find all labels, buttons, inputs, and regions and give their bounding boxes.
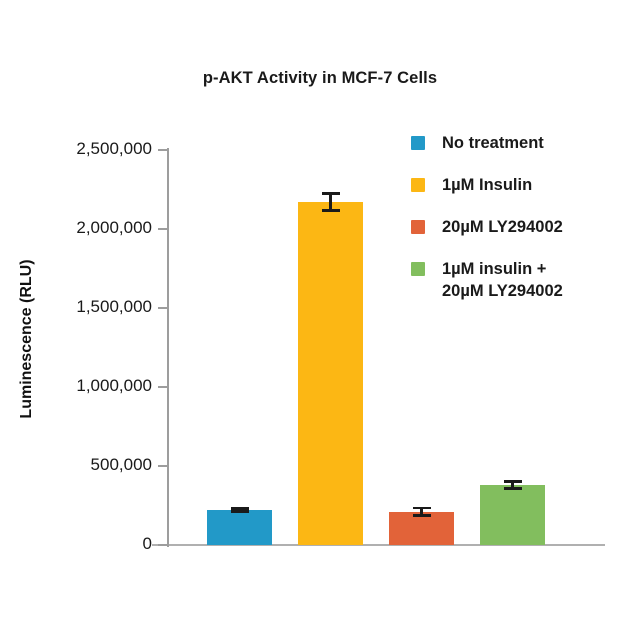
error-bar [329, 193, 331, 210]
legend-item[interactable]: 1µM Insulin [411, 174, 640, 196]
legend-color-swatch-icon [411, 136, 425, 150]
error-bar-cap-lower [413, 514, 431, 517]
legend-color-swatch-icon [411, 220, 425, 234]
error-bar-cap-upper [504, 480, 522, 483]
chart-container: p-AKT Activity in MCF-7 Cells Luminescen… [0, 0, 640, 630]
legend-color-swatch-icon [411, 178, 425, 192]
y-axis-tick-label: 2,000,000 [22, 218, 152, 238]
legend-item[interactable]: 20µM LY294002 [411, 216, 640, 238]
error-bar-cap-lower [504, 487, 522, 490]
y-axis-tick-label: 1,000,000 [22, 376, 152, 396]
legend-item-label: 1µM insulin + 20µM LY294002 [442, 258, 563, 302]
bar [480, 485, 545, 545]
error-bar-cap-lower [231, 510, 249, 513]
chart-title: p-AKT Activity in MCF-7 Cells [0, 69, 640, 88]
legend-item[interactable]: No treatment [411, 132, 640, 154]
legend-item-label: 20µM LY294002 [442, 216, 563, 238]
error-bar-cap-upper [413, 507, 431, 510]
bar [298, 202, 363, 545]
bar [207, 510, 272, 545]
y-axis-tick-label: 1,500,000 [22, 297, 152, 317]
legend-item-label: No treatment [442, 132, 544, 154]
y-axis-tick-label: 2,500,000 [22, 139, 152, 159]
legend-item-label: 1µM Insulin [442, 174, 532, 196]
y-axis-tick-labels: 0500,0001,000,0001,500,0002,000,0002,500… [22, 150, 152, 545]
legend-color-swatch-icon [411, 262, 425, 276]
legend-item[interactable]: 1µM insulin + 20µM LY294002 [411, 258, 640, 302]
y-axis-tick-label: 0 [22, 534, 152, 554]
error-bar-cap-lower [322, 209, 340, 212]
chart-legend: No treatment1µM Insulin20µM LY2940021µM … [411, 132, 640, 302]
error-bar-cap-upper [322, 192, 340, 195]
y-axis-tick-label: 500,000 [22, 455, 152, 475]
